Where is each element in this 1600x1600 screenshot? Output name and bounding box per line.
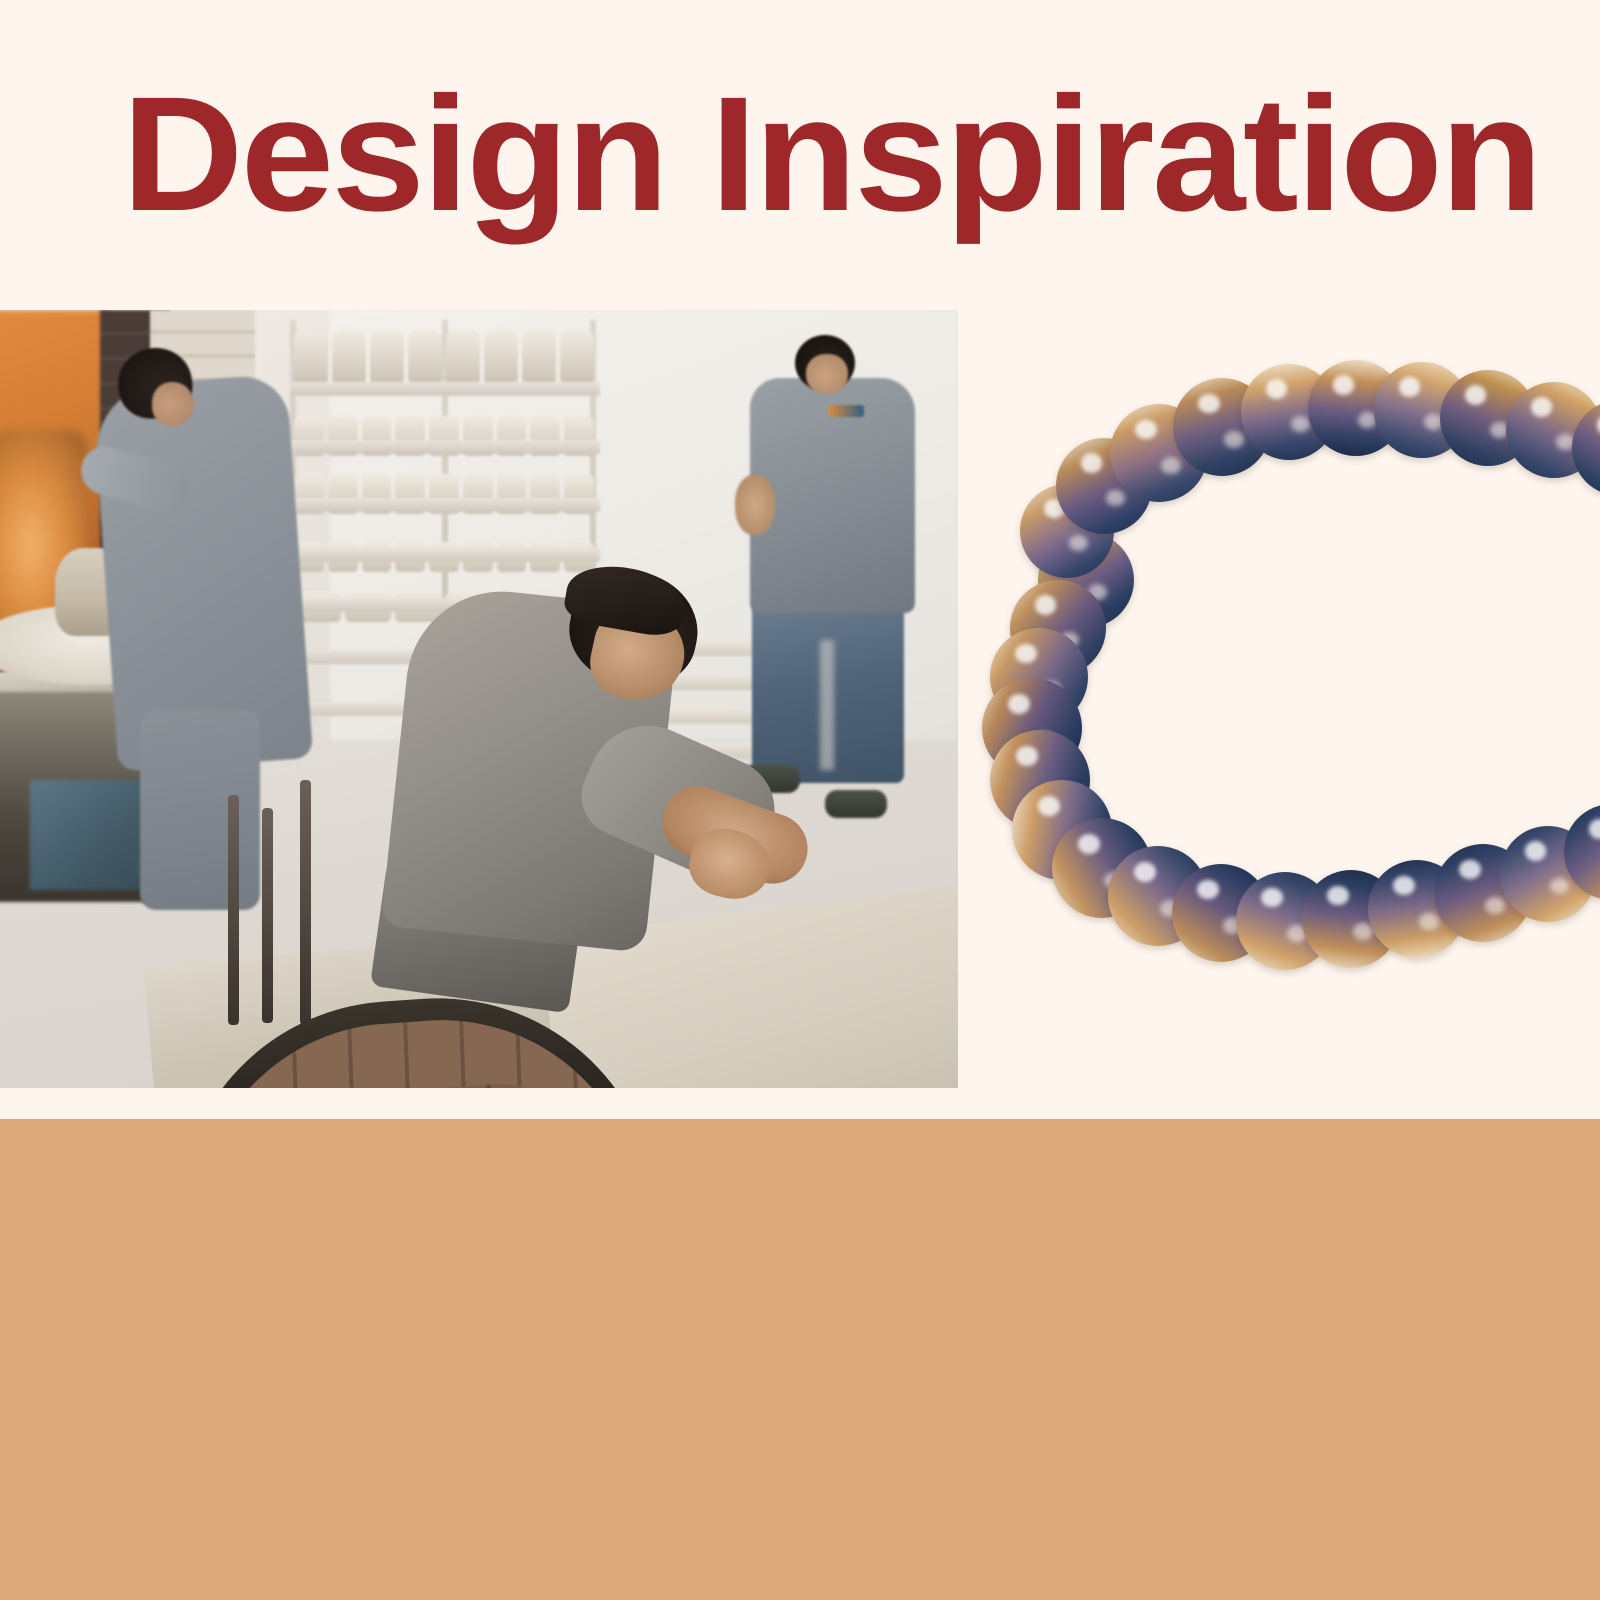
rack-pot-row [294, 326, 594, 384]
pottery-workshop-photo [0, 310, 958, 1088]
rack-shelf [290, 382, 600, 396]
worker-back-hand [735, 475, 775, 535]
worker-back-leg-gap [820, 640, 834, 770]
rack-shelf [290, 498, 600, 512]
metal-pole [228, 795, 239, 1025]
title-section: Design Inspiration [0, 0, 1600, 300]
ceramic-bead-bracelet-photo [960, 360, 1600, 970]
metal-pole [262, 808, 273, 1023]
metal-pole [300, 780, 311, 1025]
worker-back-face [806, 354, 848, 394]
rack-shelf [290, 440, 600, 454]
worker-back-shoe-right [825, 790, 887, 818]
photo-inner [0, 310, 958, 1088]
page-title: Design Inspiration [122, 72, 1564, 235]
description-band: We believe that handmade creations carry… [0, 1119, 1600, 1600]
worker-left-legs [140, 710, 260, 910]
rack-shelf [290, 548, 600, 562]
slide-root: Design Inspiration [0, 0, 1600, 1600]
worker-back-badge [828, 405, 864, 417]
worker-left-face [152, 382, 194, 426]
